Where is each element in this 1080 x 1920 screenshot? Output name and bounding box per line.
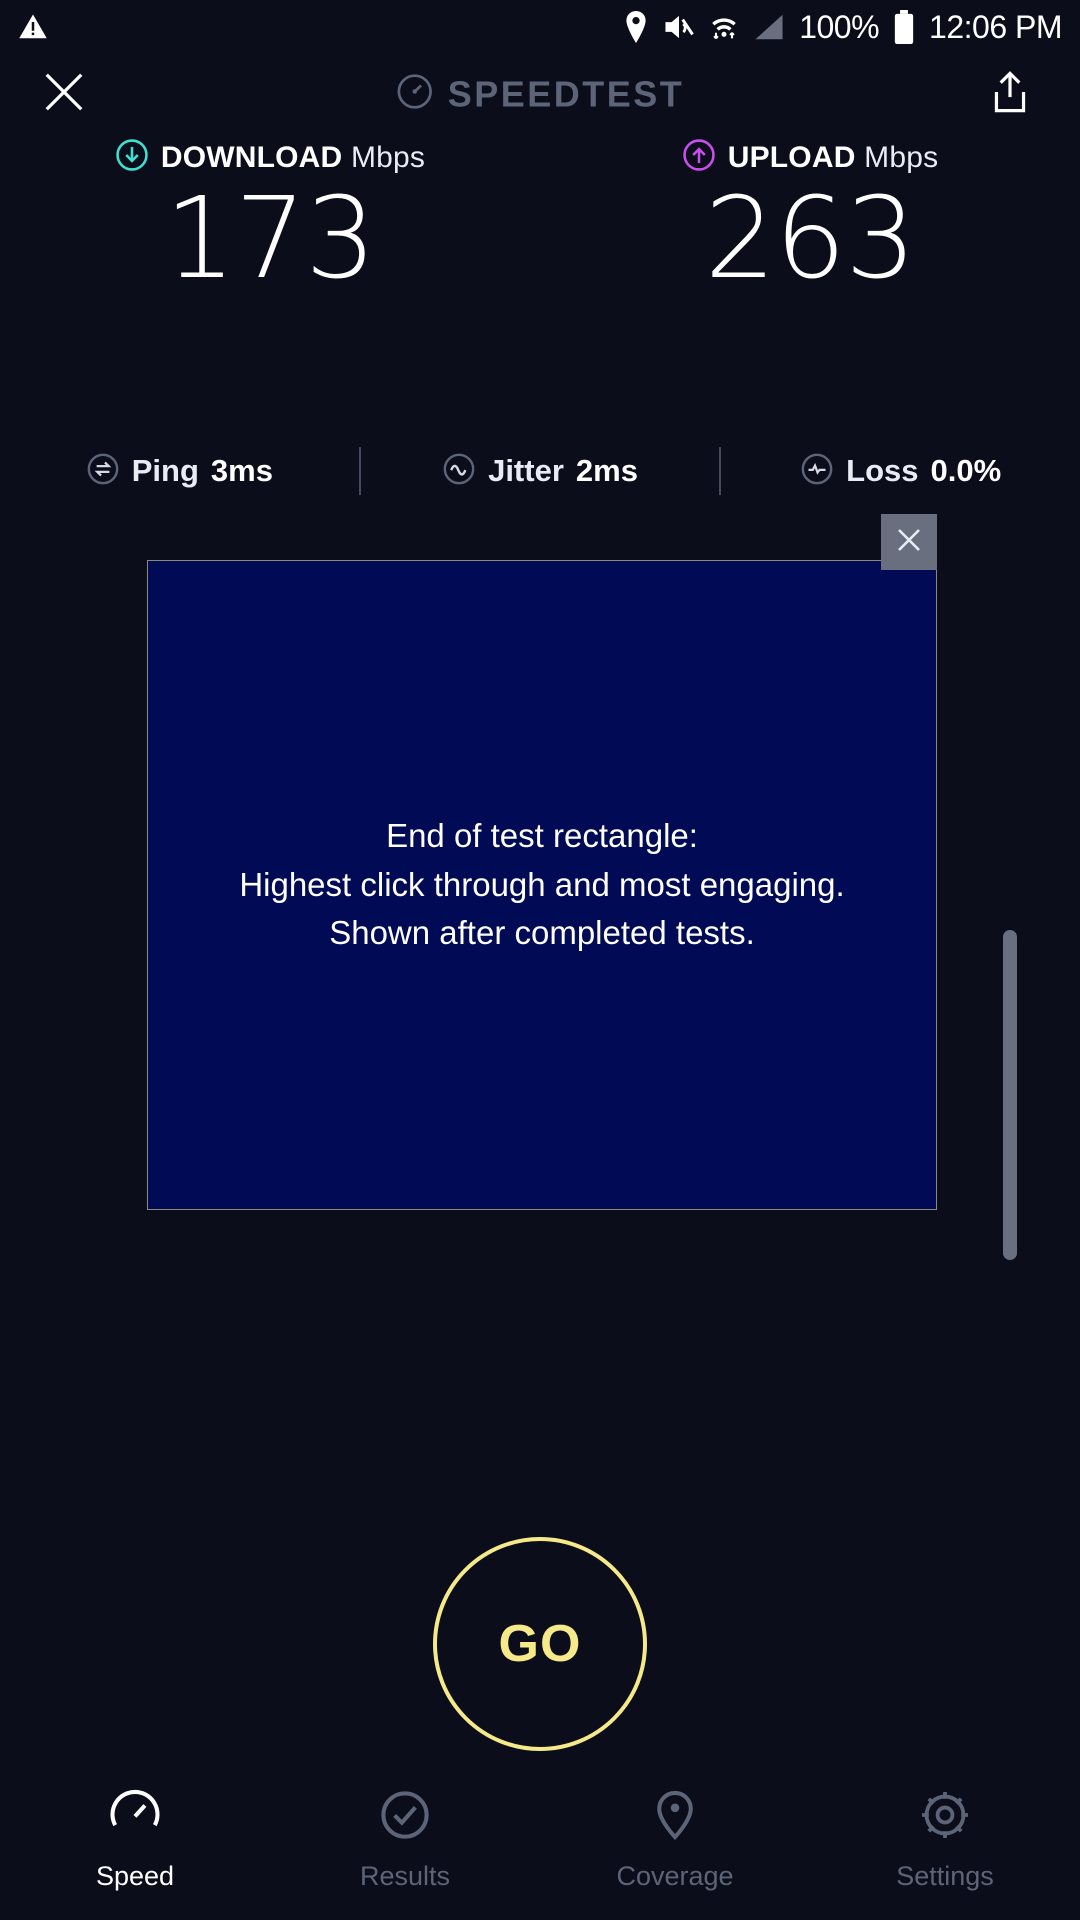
- metric-loss-label: Loss: [846, 453, 918, 489]
- status-bar-clock: 12:06 PM: [929, 9, 1062, 46]
- close-button[interactable]: [36, 66, 92, 122]
- battery-full-icon: [893, 10, 915, 44]
- metric-loss: Loss 0.0%: [721, 452, 1080, 491]
- ad-text: End of test rectangle: Highest click thr…: [239, 812, 844, 958]
- app-header: SPEEDTEST: [0, 54, 1080, 134]
- packet-loss-icon: [800, 452, 834, 491]
- advertisement-container: End of test rectangle: Highest click thr…: [147, 560, 937, 1210]
- download-value: 173: [165, 181, 376, 299]
- metric-ping-value: 3ms: [211, 453, 273, 489]
- battery-percent-label: 100%: [799, 9, 879, 46]
- upload-label-line: UPLOAD Mbps: [682, 138, 939, 177]
- metric-jitter-label: Jitter: [488, 453, 564, 489]
- speedtest-app-screen: 100% 12:06 PM SPEEDTEST: [0, 0, 1080, 1920]
- speedometer-icon: [108, 1788, 162, 1847]
- wave-circle-icon: [442, 452, 476, 491]
- share-button[interactable]: [982, 66, 1038, 122]
- brand-logo: SPEEDTEST: [396, 73, 685, 116]
- status-bar: 100% 12:06 PM: [0, 0, 1080, 54]
- brand-title: SPEEDTEST: [448, 73, 685, 115]
- speed-results: DOWNLOAD Mbps 173 UPLOAD Mbps 263: [0, 138, 1080, 299]
- status-bar-left: [18, 12, 48, 42]
- location-pin-icon: [648, 1788, 702, 1847]
- speedometer-icon: [396, 73, 434, 116]
- nav-label-results: Results: [360, 1861, 450, 1892]
- upload-result: UPLOAD Mbps 263: [540, 138, 1080, 299]
- nav-item-coverage[interactable]: Coverage: [540, 1788, 810, 1892]
- nav-item-results[interactable]: Results: [270, 1788, 540, 1892]
- status-bar-right: 100% 12:06 PM: [623, 9, 1062, 46]
- arrow-down-circle-icon: [115, 138, 149, 177]
- download-result: DOWNLOAD Mbps 173: [0, 138, 540, 299]
- arrow-up-circle-icon: [682, 138, 716, 177]
- nav-label-speed: Speed: [96, 1861, 174, 1892]
- download-label-line: DOWNLOAD Mbps: [115, 138, 425, 177]
- nav-item-settings[interactable]: Settings: [810, 1788, 1080, 1892]
- location-pin-icon: [623, 11, 649, 43]
- speed-values-row: DOWNLOAD Mbps 173 UPLOAD Mbps 263: [0, 138, 1080, 299]
- nav-label-coverage: Coverage: [616, 1861, 733, 1892]
- ad-panel[interactable]: End of test rectangle: Highest click thr…: [147, 560, 937, 1210]
- metric-jitter-value: 2ms: [576, 453, 638, 489]
- metric-loss-value: 0.0%: [931, 453, 1002, 489]
- check-circle-icon: [378, 1788, 432, 1847]
- upload-value: 263: [705, 181, 916, 299]
- metrics-row: Ping 3ms Jitter 2ms Loss 0.0%: [0, 442, 1080, 500]
- gear-icon: [918, 1788, 972, 1847]
- bottom-navigation: Speed Results Coverage Settings: [0, 1760, 1080, 1920]
- metric-ping: Ping 3ms: [0, 452, 359, 491]
- download-label: DOWNLOAD Mbps: [161, 141, 425, 175]
- cellular-signal-icon: [753, 13, 785, 41]
- upload-label: UPLOAD Mbps: [728, 141, 939, 175]
- share-icon: [990, 70, 1030, 119]
- go-button-label: GO: [499, 1614, 582, 1674]
- nav-label-settings: Settings: [896, 1861, 994, 1892]
- wifi-icon: [709, 11, 739, 43]
- close-icon: [894, 525, 924, 560]
- ad-close-button[interactable]: [881, 514, 937, 570]
- ping-exchange-icon: [86, 452, 120, 491]
- nav-item-speed[interactable]: Speed: [0, 1788, 270, 1892]
- metric-ping-label: Ping: [132, 453, 199, 489]
- warning-triangle-icon: [18, 12, 48, 42]
- volume-mute-icon: [663, 12, 695, 42]
- scrollbar-thumb[interactable]: [1003, 930, 1017, 1260]
- go-button[interactable]: GO: [433, 1537, 647, 1751]
- close-icon: [41, 69, 87, 120]
- metric-jitter: Jitter 2ms: [361, 452, 720, 491]
